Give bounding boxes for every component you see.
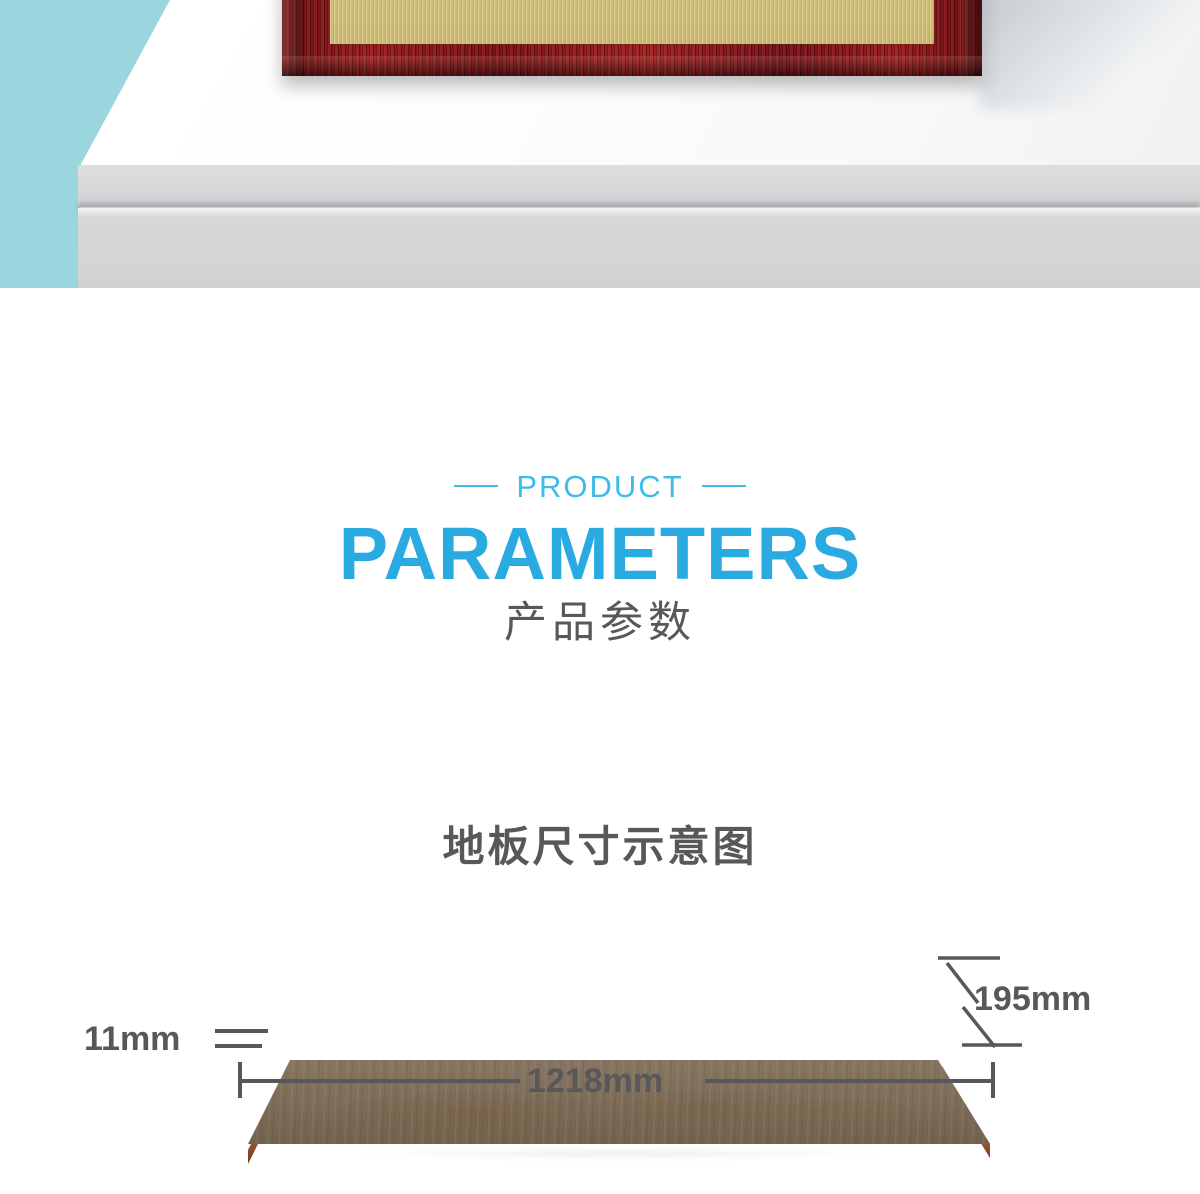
dimension-label-width: 195mm — [974, 982, 1091, 1016]
desk-top-sheen — [980, 0, 1200, 110]
dimension-label-length: 1218mm — [527, 1064, 663, 1098]
board-drop-shadow — [256, 1152, 984, 1164]
page-subtitle-cn: 产品参数 — [0, 597, 1200, 651]
diagram-title: 地板尺寸示意图 — [0, 826, 1200, 868]
board-figure — [0, 104, 1200, 368]
dash-left-icon — [454, 485, 498, 487]
page-title: PARAMETERS — [0, 515, 1200, 593]
eyebrow-row: PRODUCT — [0, 466, 1200, 506]
eyebrow-label: PRODUCT — [516, 471, 683, 502]
dash-right-icon — [702, 485, 746, 487]
plaque-gold-plate — [330, 0, 934, 44]
rosewood-plaque — [282, 0, 982, 76]
plaque-bevel-bottom — [282, 56, 982, 76]
dimension-label-thickness: 11mm — [84, 1022, 180, 1056]
product-parameters-header: PRODUCT PARAMETERS 产品参数 — [0, 466, 1200, 651]
